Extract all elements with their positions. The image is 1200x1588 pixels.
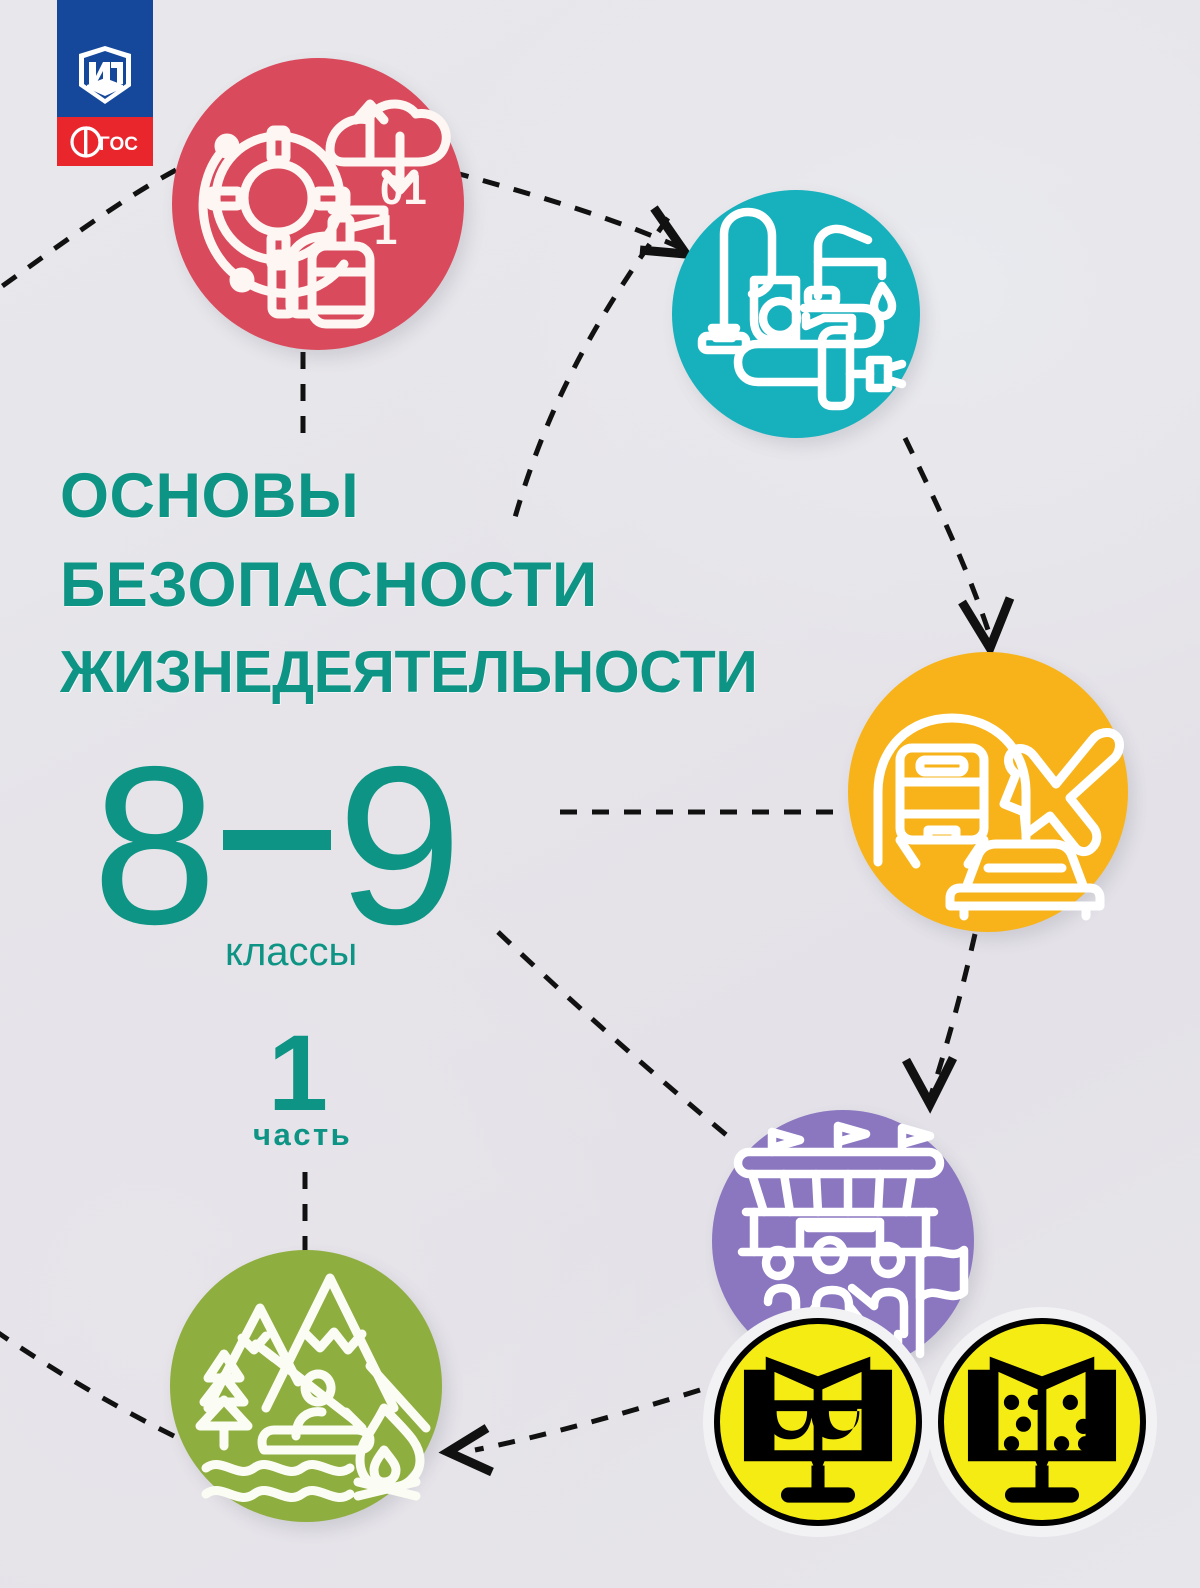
grade-to: 9: [337, 742, 462, 949]
circle-emergency-rescue: 01 1: [172, 58, 464, 350]
book-with-braille-dots-icon: [944, 1324, 1140, 1520]
publisher-logo-block: ГОС: [57, 0, 153, 166]
connector-teal-to-orange: [905, 438, 988, 630]
fgos-badge-icon: ГОС: [69, 122, 141, 162]
page-title: ОСНОВЫ БЕЗОПАСНОСТИ ЖИЗНЕДЕЯТЕЛЬНОСТИ: [60, 452, 757, 715]
title-line-1: ОСНОВЫ: [60, 452, 757, 541]
connector-grades-to-purple: [498, 932, 730, 1138]
textbook-cover: ГОС: [0, 0, 1200, 1588]
connector-red-left-wrap: [0, 170, 176, 292]
connector-orange-to-purple: [930, 934, 975, 1098]
svg-text:ГОС: ГОС: [99, 134, 138, 155]
book-with-glasses-icon: [720, 1324, 916, 1520]
grade-from: 8: [92, 742, 217, 949]
part-caption: часть: [253, 1117, 352, 1153]
circle-outdoor-nature-safety: [170, 1250, 442, 1522]
grade-caption: классы: [225, 930, 357, 975]
grade-dash: [223, 830, 331, 850]
connector-olive-left-wrap: [0, 1330, 178, 1438]
circle-transport-safety: [848, 652, 1128, 932]
connector-purple-to-olive: [475, 1390, 700, 1450]
title-line-2: БЕЗОПАСНОСТИ: [60, 541, 757, 630]
grade-range: 8 9: [92, 742, 462, 949]
connector-red-to-teal: [452, 172, 690, 252]
transport-safety-icon: [848, 652, 1128, 932]
publisher-shield-logo-icon: [75, 44, 135, 106]
part-number: 1: [268, 1019, 328, 1127]
arrowhead-into-olive: [448, 1428, 492, 1472]
circle-household-safety: [672, 190, 920, 438]
emergency-rescue-icon: 01 1: [172, 58, 464, 350]
badge-large-print: [714, 1318, 922, 1526]
title-line-3: ЖИЗНЕДЕЯТЕЛЬНОСТИ: [60, 631, 757, 715]
arrowhead-into-orange: [962, 598, 1010, 648]
arrowhead-into-purple: [906, 1058, 953, 1104]
household-safety-icon: [672, 190, 920, 438]
badge-braille: [938, 1318, 1146, 1526]
outdoor-nature-safety-icon: [170, 1250, 442, 1522]
